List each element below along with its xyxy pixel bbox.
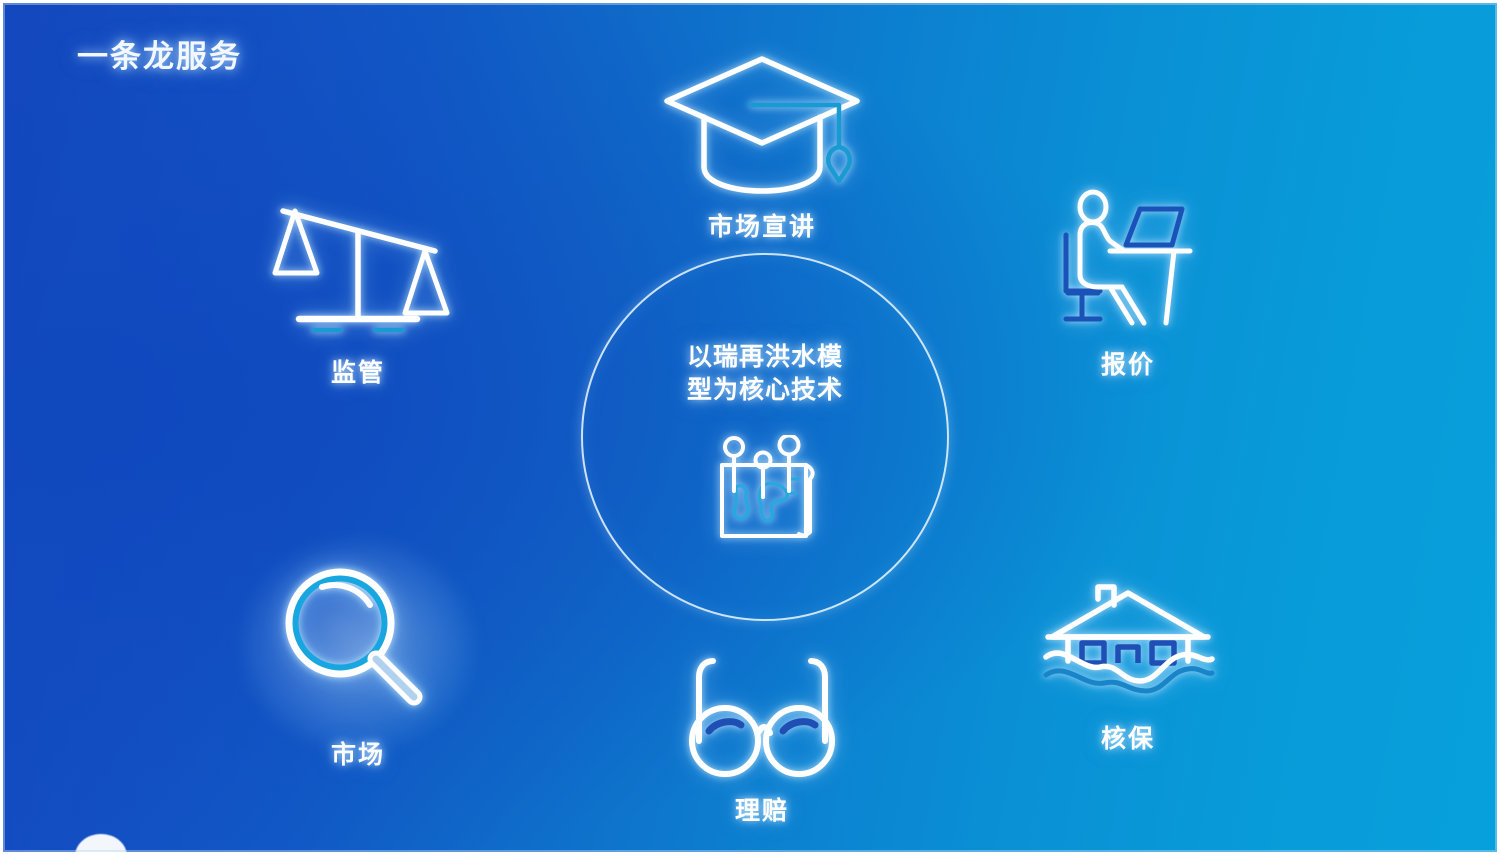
map-with-location-pins-icon — [706, 435, 824, 552]
center-hub-label: 以瑞再洪水模 型为核心技术 — [665, 341, 865, 407]
node-label-market: 市场 — [331, 735, 385, 771]
node-claims[interactable]: 理赔 — [637, 653, 887, 827]
node-quotation[interactable]: 报价 — [1003, 189, 1253, 381]
center-hub-label-line1: 以瑞再洪水模 — [665, 341, 865, 374]
node-supervision[interactable]: 监管 — [243, 199, 473, 389]
node-market-talk[interactable]: 市场宣讲 — [637, 49, 887, 243]
scales-of-justice-icon — [265, 199, 451, 339]
eyeglasses-icon — [683, 653, 841, 781]
node-underwriting[interactable]: 核保 — [1003, 581, 1253, 755]
flooded-house-icon — [1038, 581, 1218, 697]
center-hub-label-line2: 型为核心技术 — [665, 374, 865, 407]
node-label-claims: 理赔 — [735, 791, 789, 827]
node-market[interactable]: 市场 — [243, 561, 473, 771]
node-label-underwriting: 核保 — [1101, 719, 1155, 755]
bottom-edge-decoration — [75, 834, 127, 855]
node-label-quotation: 报价 — [1101, 345, 1155, 381]
person-at-desk-with-laptop-icon — [1048, 189, 1208, 343]
center-hub[interactable]: 以瑞再洪水模 型为核心技术 — [581, 253, 949, 621]
magnifying-glass-icon — [278, 561, 438, 721]
slide-canvas: 一条龙服务 以瑞再洪水模 型为核心技术 — [0, 0, 1500, 855]
node-label-supervision: 监管 — [331, 353, 385, 389]
graduation-cap-icon — [657, 49, 867, 201]
page-title: 一条龙服务 — [77, 31, 242, 76]
node-label-market-talk: 市场宣讲 — [708, 207, 816, 243]
